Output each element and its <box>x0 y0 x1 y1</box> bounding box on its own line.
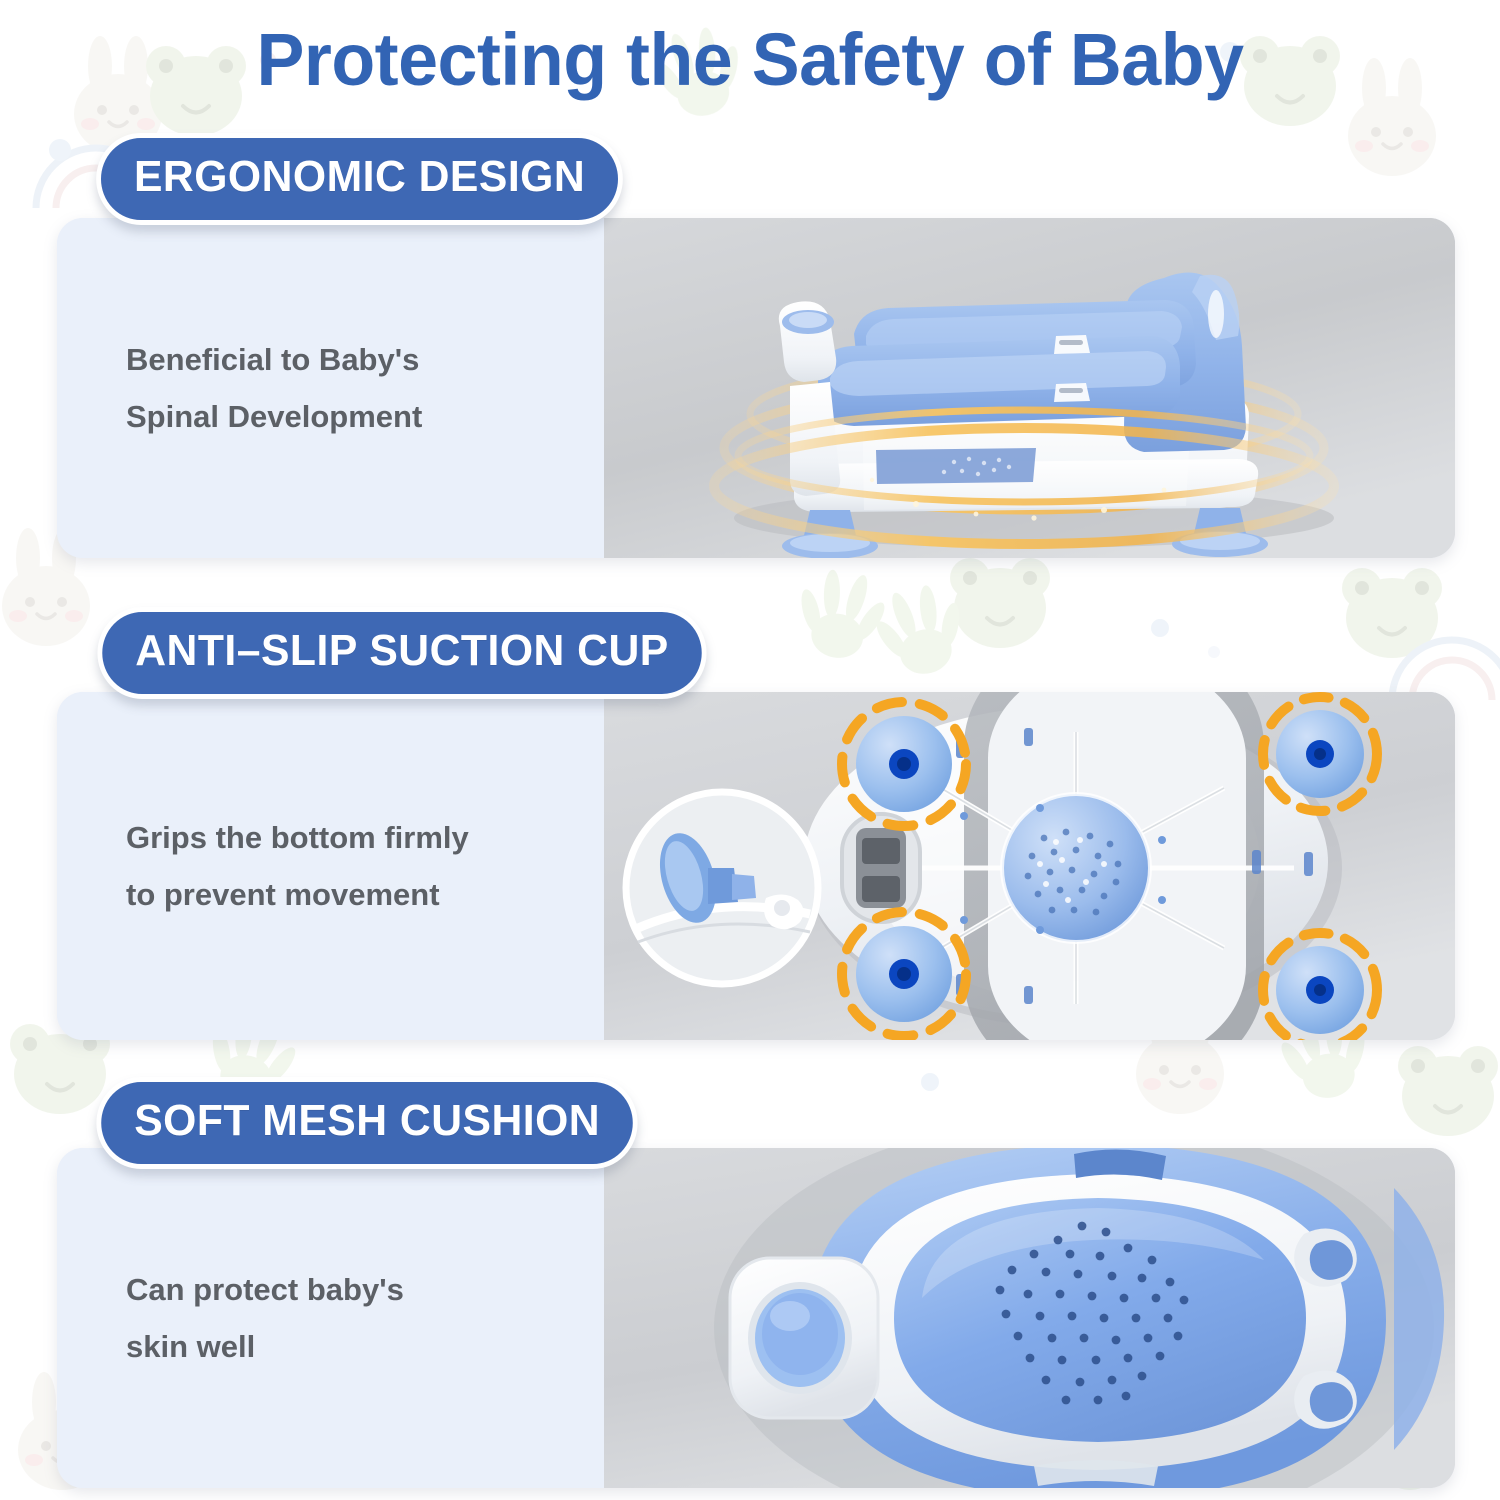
product-photo-bath-seat-side-view <box>604 218 1455 558</box>
mesh-cushion-illustration <box>604 1148 1455 1488</box>
feature-description-line-1: Grips the bottom firmly <box>126 820 469 855</box>
feature-badge-ergonomic-design[interactable]: ERGONOMIC DESIGN <box>96 133 623 225</box>
bath-seat-side-illustration <box>604 218 1455 558</box>
feature-description: Beneficial to Baby's Spinal Development <box>57 331 422 445</box>
feature-badge-soft-mesh-cushion[interactable]: SOFT MESH CUSHION <box>96 1077 638 1169</box>
suction-cup-illustration <box>604 692 1455 1040</box>
feature-description: Can protect baby's skin well <box>57 1261 404 1375</box>
product-photo-bath-seat-underside <box>604 692 1455 1040</box>
feature-card: Beneficial to Baby's Spinal Development <box>57 218 1455 558</box>
feature-text-pane: Beneficial to Baby's Spinal Development <box>57 218 604 558</box>
page-title: Protecting the Safety of Baby <box>23 12 1478 108</box>
feature-text-pane: Can protect baby's skin well <box>57 1148 604 1488</box>
feature-description-line-1: Can protect baby's <box>126 1272 404 1307</box>
feature-card: Can protect baby's skin well <box>57 1148 1455 1488</box>
feature-description-line-2: Spinal Development <box>126 399 422 434</box>
feature-description-line-1: Beneficial to Baby's <box>126 342 419 377</box>
latch-button <box>730 1258 878 1418</box>
feature-description-line-2: to prevent movement <box>126 877 440 912</box>
suction-cup-detail-inset <box>626 792 818 984</box>
feature-badge-anti-slip-suction-cup[interactable]: ANTI–SLIP SUCTION CUP <box>97 607 706 699</box>
feature-description: Grips the bottom firmly to prevent movem… <box>57 809 469 923</box>
feature-card: Grips the bottom firmly to prevent movem… <box>57 692 1455 1040</box>
feature-description-line-2: skin well <box>126 1329 255 1364</box>
product-photo-mesh-cushion-closeup <box>604 1148 1455 1488</box>
feature-text-pane: Grips the bottom firmly to prevent movem… <box>57 692 604 1040</box>
